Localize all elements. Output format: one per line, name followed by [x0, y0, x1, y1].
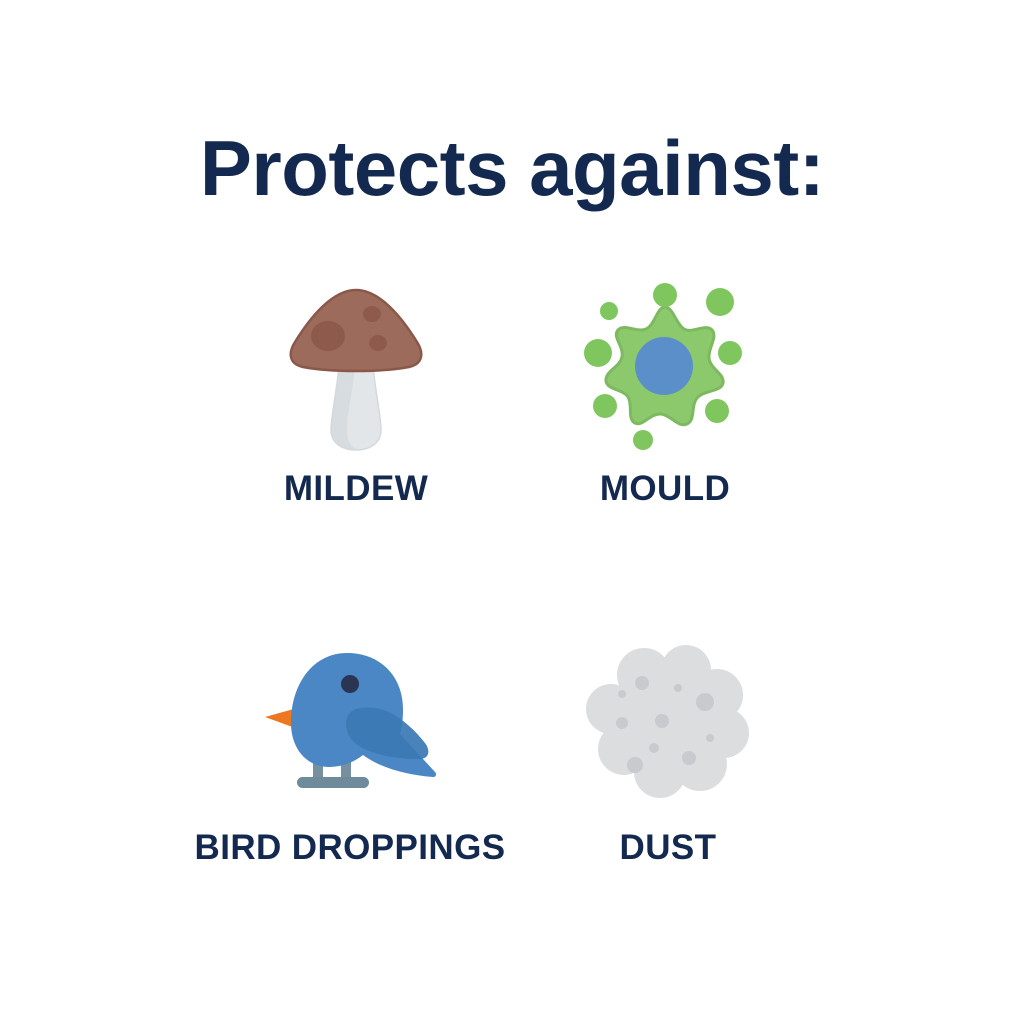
- poster-canvas: Protects against: MILDEW: [0, 0, 1024, 1024]
- item-label-mildew: MILDEW: [284, 469, 428, 509]
- protects-against-grid: MILDEW: [0, 270, 1024, 890]
- dust-cloud-icon: [573, 635, 763, 810]
- item-bird-droppings[interactable]: BIRD DROPPINGS: [185, 635, 515, 868]
- item-dust[interactable]: DUST: [503, 635, 833, 868]
- item-label-mould: MOULD: [600, 469, 730, 509]
- item-mildew[interactable]: MILDEW: [191, 280, 521, 509]
- mushroom-icon: [261, 280, 451, 455]
- page-title: Protects against:: [0, 128, 1024, 210]
- mould-spore-icon: [570, 280, 760, 455]
- item-mould[interactable]: MOULD: [500, 280, 830, 509]
- item-label-dust: DUST: [620, 828, 717, 868]
- item-label-bird-droppings: BIRD DROPPINGS: [195, 828, 506, 868]
- bird-icon: [255, 635, 445, 810]
